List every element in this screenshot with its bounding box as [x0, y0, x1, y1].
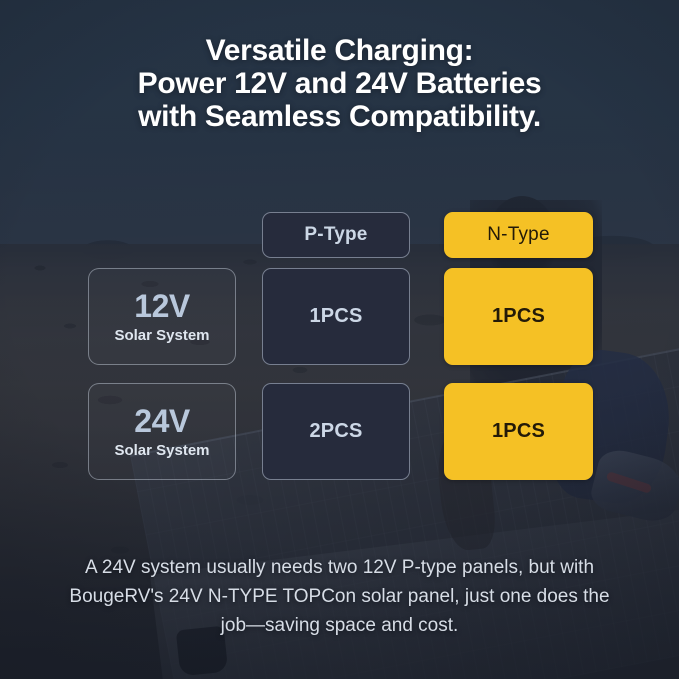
page-title-line-3: with Seamless Compatibility. — [0, 100, 679, 133]
footer-caption-line-3: job—saving space and cost. — [42, 611, 637, 640]
table-cell-24v-p-type-value: 2PCS — [309, 420, 362, 443]
table-cell-24v-p-type: 2PCS — [262, 383, 410, 480]
row-label-12v: 12V Solar System — [88, 268, 236, 365]
column-header-n-type-label: N-Type — [487, 224, 549, 246]
row-label-24v: 24V Solar System — [88, 383, 236, 480]
column-header-n-type: N-Type — [444, 212, 593, 258]
table-cell-24v-n-type-value: 1PCS — [492, 420, 545, 443]
promo-graphic: Versatile Charging: Power 12V and 24V Ba… — [0, 0, 679, 679]
page-title-line-2: Power 12V and 24V Batteries — [0, 67, 679, 100]
row-label-24v-system: Solar System — [114, 441, 209, 460]
row-label-12v-system: Solar System — [114, 326, 209, 345]
table-cell-24v-n-type: 1PCS — [444, 383, 593, 480]
page-title-line-1: Versatile Charging: — [0, 34, 679, 67]
table-cell-12v-p-type: 1PCS — [262, 268, 410, 365]
page-title: Versatile Charging: Power 12V and 24V Ba… — [0, 34, 679, 133]
footer-caption-line-2: BougeRV's 24V N-TYPE TOPCon solar panel,… — [42, 582, 637, 611]
column-header-p-type: P-Type — [262, 212, 410, 258]
footer-caption-line-1: A 24V system usually needs two 12V P-typ… — [42, 553, 637, 582]
row-label-24v-voltage: 24V — [134, 404, 189, 438]
column-header-p-type-label: P-Type — [304, 224, 367, 246]
table-cell-12v-n-type-value: 1PCS — [492, 305, 545, 328]
table-cell-12v-p-type-value: 1PCS — [309, 305, 362, 328]
table-cell-12v-n-type: 1PCS — [444, 268, 593, 365]
footer-caption: A 24V system usually needs two 12V P-typ… — [42, 553, 637, 640]
row-label-12v-voltage: 12V — [134, 289, 189, 323]
